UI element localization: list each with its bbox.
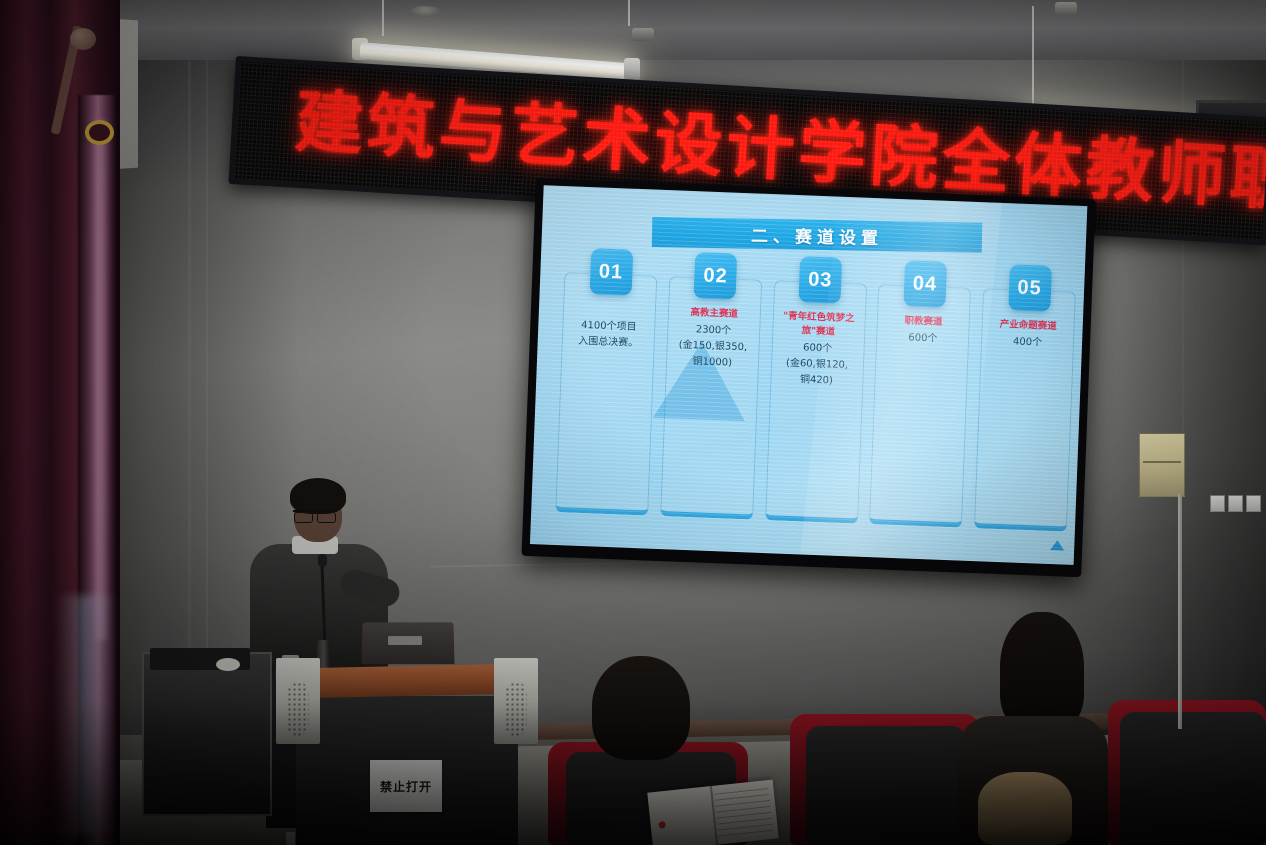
- track-card: 01 4100个项目 入围总决赛。: [555, 272, 657, 515]
- card-number-badge: 02: [694, 252, 738, 300]
- glasses-icon: [293, 510, 337, 521]
- card-body: 400个: [982, 331, 1074, 352]
- card-line: 铜1000): [670, 353, 756, 372]
- presenter-hair: [290, 478, 346, 514]
- floor-shading: [0, 700, 1266, 845]
- card-line: 400个: [985, 333, 1071, 352]
- wall-light-switch[interactable]: [1210, 495, 1225, 512]
- lamp-cap: [624, 58, 640, 80]
- slide-corner-marker: [1050, 540, 1064, 551]
- lamp-wire: [382, 0, 384, 36]
- track-card-list: 01 4100个项目 入围总决赛。 02 高教主赛道 2300个 (金150,银…: [555, 272, 1076, 531]
- wall-electrical-box: [1139, 433, 1185, 497]
- card-body: 600个 (金60,银120, 铜420): [771, 337, 864, 390]
- card-line: (金60,银120,: [774, 355, 860, 374]
- laptop: [361, 622, 454, 664]
- lamp-wire: [628, 0, 630, 26]
- card-line: 600个: [880, 329, 966, 348]
- wall-conduit: [1178, 494, 1182, 729]
- ceiling-sprinkler: [632, 28, 654, 41]
- track-card: 05 产业命题赛道 400个: [974, 288, 1076, 531]
- curtain-highlight: [92, 120, 110, 640]
- curtain-grommet: [85, 120, 114, 145]
- lamp-wire: [1032, 6, 1034, 106]
- card-heading: "青年红色筑梦之旅"赛道: [773, 309, 865, 340]
- conference-room-photo: 建筑与艺术设计学院全体教师职工大会 二、赛道设置 01 4100个项目 入围总决…: [0, 0, 1266, 845]
- card-line: 入围总决赛。: [565, 333, 651, 352]
- card-body: 4100个项目 入围总决赛。: [562, 315, 654, 352]
- slide-title-bar: 二、赛道设置: [652, 217, 982, 253]
- cart-item: [216, 658, 240, 671]
- track-card: 02 高教主赛道 2300个 (金150,银350, 铜1000): [660, 276, 762, 519]
- card-number-badge: 01: [589, 248, 633, 296]
- card-body: 600个: [877, 327, 969, 348]
- microphone-icon: [318, 554, 327, 567]
- card-number-badge: 03: [798, 256, 842, 304]
- track-card: 03 "青年红色筑梦之旅"赛道 600个 (金60,银120, 铜420): [765, 280, 867, 523]
- laptop-logo: [388, 636, 422, 645]
- card-body: 2300个 (金150,银350, 铜1000): [667, 319, 760, 372]
- card-line: (金150,银350,: [670, 337, 756, 356]
- card-number-badge: 05: [1008, 264, 1052, 312]
- track-card: 04 职教赛道 600个: [869, 284, 971, 527]
- card-number-badge: 04: [903, 260, 947, 308]
- presentation-slide: 二、赛道设置 01 4100个项目 入围总决赛。 02 高教主赛道 2300: [530, 185, 1087, 565]
- projection-display: 二、赛道设置 01 4100个项目 入围总决赛。 02 高教主赛道 2300: [521, 178, 1095, 577]
- slide-title-text: 二、赛道设置: [751, 221, 883, 248]
- card-line: 铜420): [774, 371, 860, 390]
- ceiling-vent: [410, 6, 440, 17]
- wall-light-switch[interactable]: [1246, 495, 1261, 512]
- wall-light-switch[interactable]: [1228, 495, 1243, 512]
- curtain-rod-knob: [70, 28, 96, 50]
- ceiling-sprinkler: [1055, 2, 1077, 15]
